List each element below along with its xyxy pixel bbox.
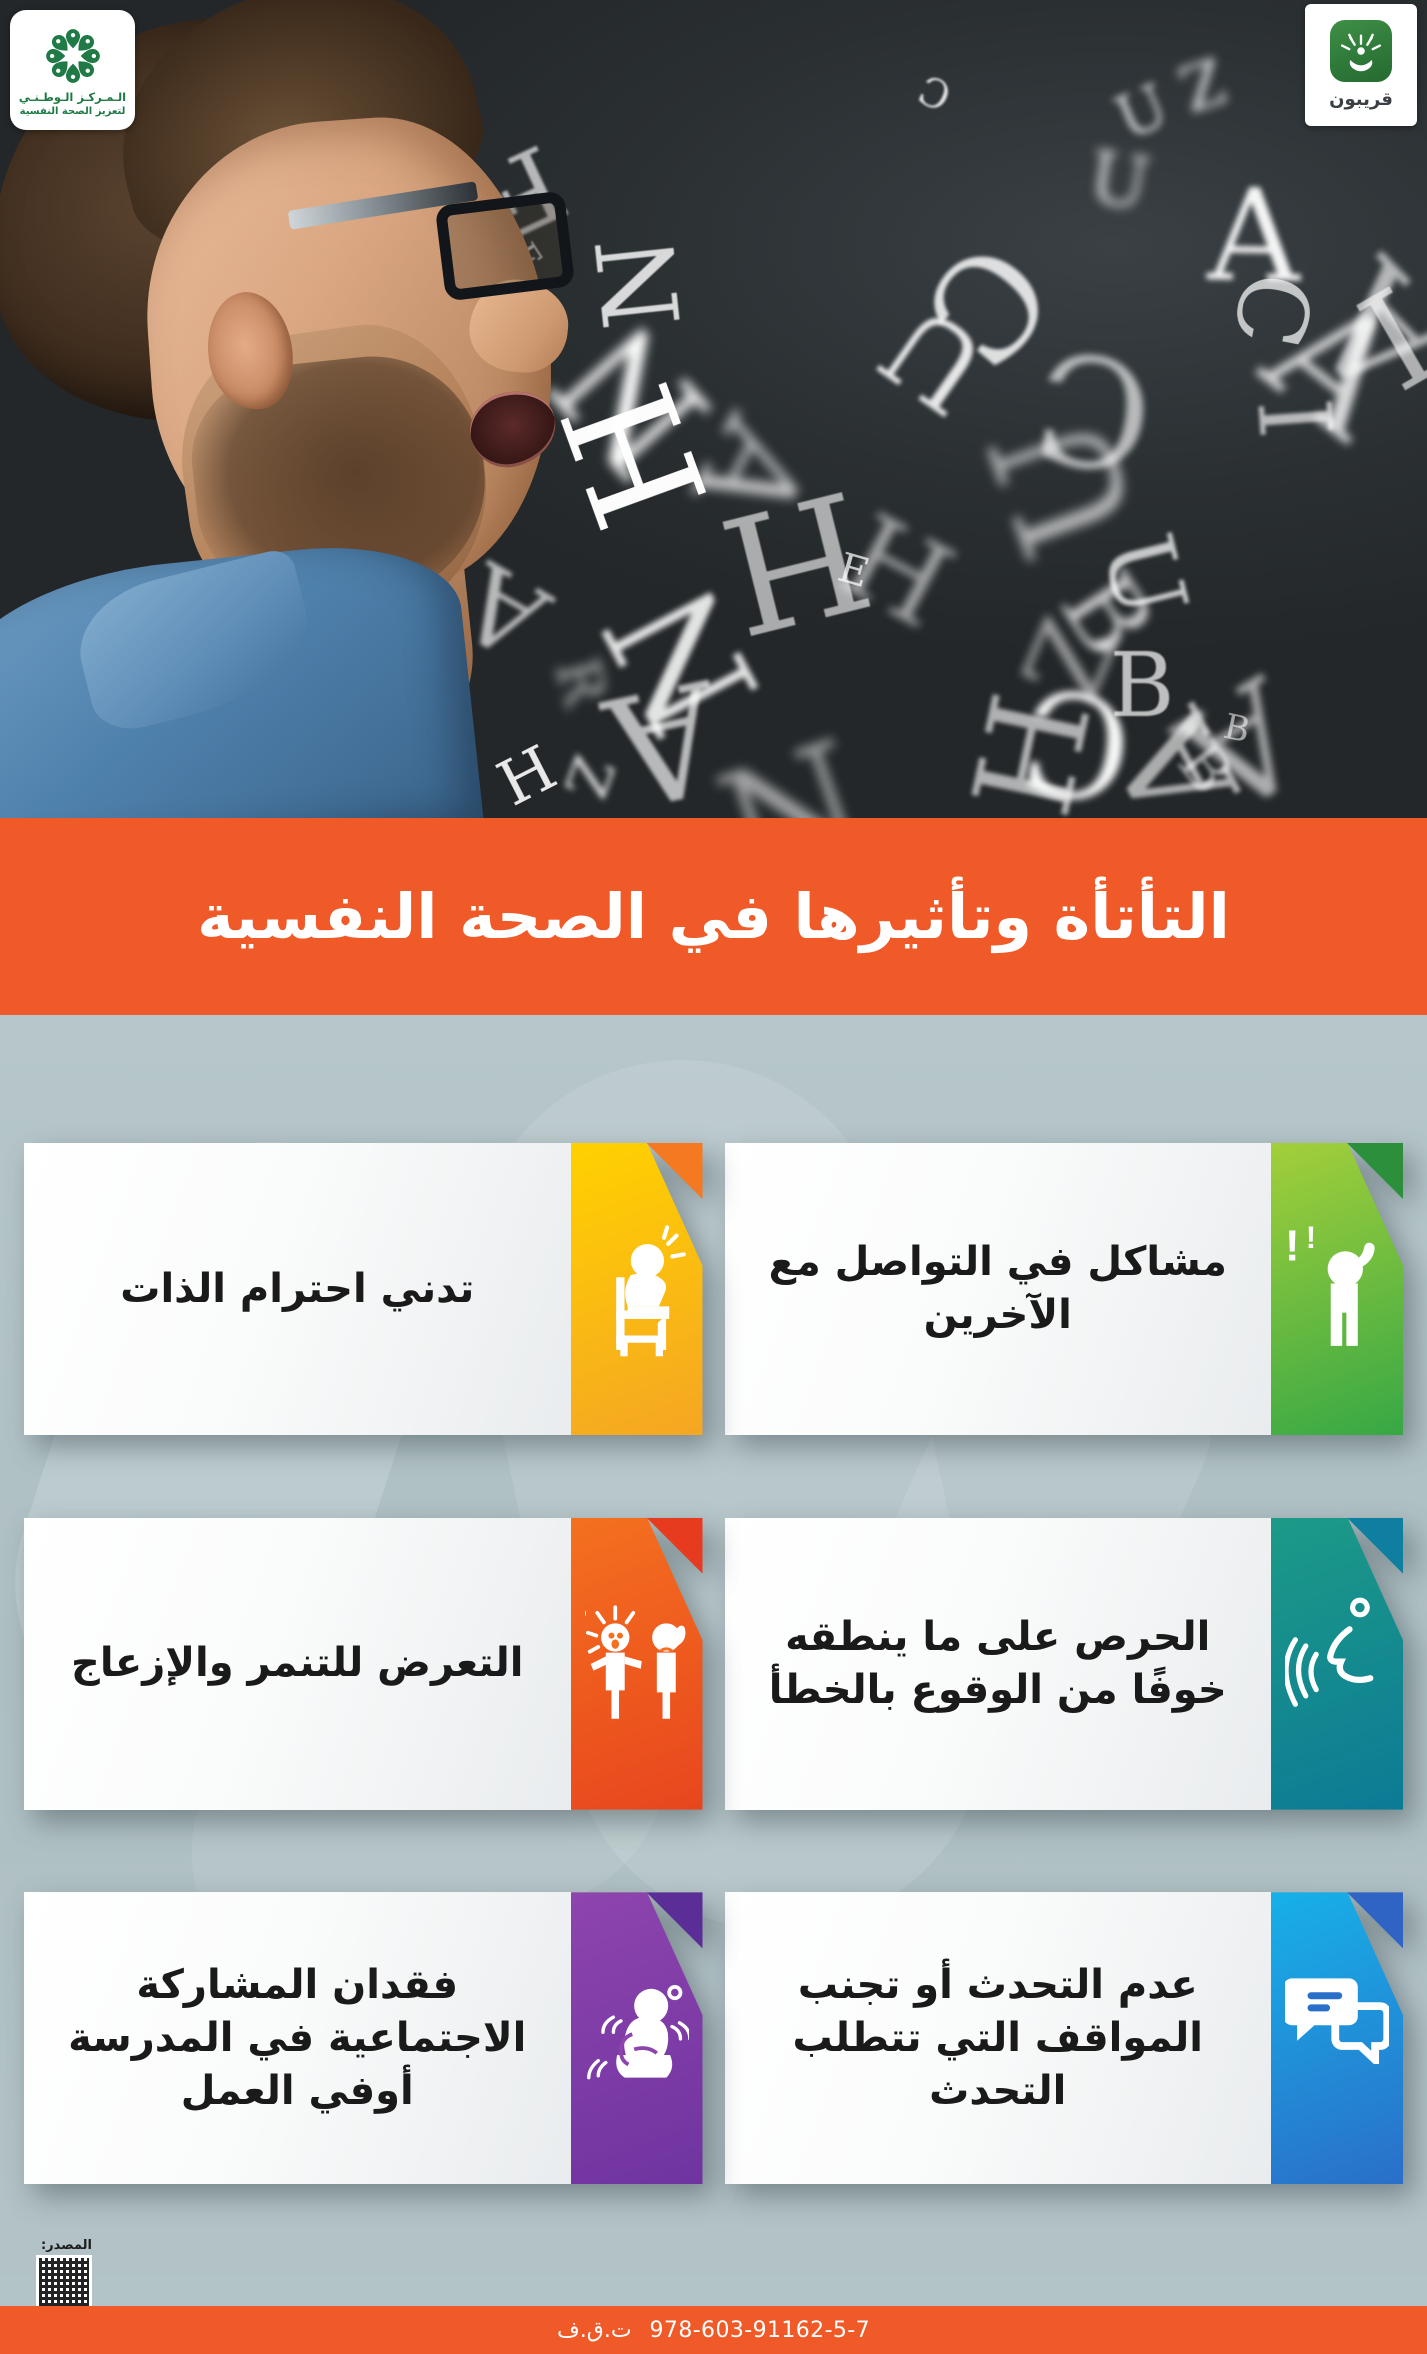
infographic-poster: BHBRANAZUCHFANUCEHAIZUACNBUFAHCZAIUNHACB	[0, 0, 1427, 2354]
effect-card[interactable]: التعرض للتنمر والإزعاج @#%!	[24, 1518, 703, 1810]
card-label: تدني احترام الذات	[120, 1263, 474, 1316]
bullying-two-people-icon: @#%!	[585, 1594, 689, 1734]
card-text-panel: عدم التحدث أو تجنب المواقف التي تتطلب ال…	[725, 1892, 1272, 2184]
card-icon-panel	[1271, 1518, 1403, 1810]
speech-bubbles-icon	[1285, 1968, 1389, 2108]
card-icon-panel: ! !	[1271, 1143, 1403, 1435]
effects-card-grid: مشاكل في التواصل مع الآخرين ! ! تدني احت…	[0, 1015, 1427, 2255]
page-title: التأتأة وتأثيرها في الصحة النفسية	[157, 878, 1270, 956]
flying-letter: I	[1248, 395, 1350, 441]
card-label: مشاكل في التواصل مع الآخرين	[751, 1236, 1246, 1342]
source-label: المصدر:	[12, 2238, 92, 2253]
center-emblem-icon	[41, 24, 105, 88]
person-hugging-knees-icon	[585, 1968, 689, 2108]
card-icon-panel	[571, 1143, 703, 1435]
qareeboon-label: قريبون	[1329, 89, 1393, 110]
card-label: فقدان المشاركة الاجتماعية في المدرسة أوف…	[50, 1959, 545, 2117]
card-icon-panel	[571, 1892, 703, 2184]
effect-card[interactable]: الحرص على ما ينطقه خوفًا من الوقوع بالخط…	[725, 1518, 1404, 1810]
flying-letter: U	[1084, 141, 1155, 221]
card-icon-panel: @#%!	[571, 1518, 703, 1810]
svg-text:@#%!: @#%!	[585, 1605, 587, 1622]
qareeboon-logo: قريبون	[1305, 4, 1417, 126]
card-text-panel: التعرض للتنمر والإزعاج	[24, 1518, 571, 1810]
speaking-head-sound-waves-icon	[1285, 1594, 1389, 1734]
flying-letter: C	[1218, 264, 1326, 354]
qr-code-icon[interactable]	[36, 2255, 92, 2311]
flying-letter: C	[915, 67, 958, 115]
isbn-number: 978-603-91162-5-7	[650, 2318, 871, 2343]
svg-text:!: !	[1285, 1222, 1300, 1271]
card-label: الحرص على ما ينطقه خوفًا من الوقوع بالخط…	[751, 1611, 1246, 1717]
card-label: التعرض للتنمر والإزعاج	[71, 1637, 523, 1690]
effect-card[interactable]: عدم التحدث أو تجنب المواقف التي تتطلب ال…	[725, 1892, 1404, 2184]
effect-card[interactable]: فقدان المشاركة الاجتماعية في المدرسة أوف…	[24, 1892, 703, 2184]
confused-person-exclamation-icon: ! !	[1285, 1219, 1389, 1359]
logo-line-2: لتعزيز الصحة النفسية	[20, 106, 126, 117]
sad-person-sitting-on-chair-icon	[585, 1219, 689, 1359]
logo-line-1: الـمـركـز الـوطـنـي	[19, 90, 126, 104]
card-label: عدم التحدث أو تجنب المواقف التي تتطلب ال…	[751, 1959, 1246, 2117]
national-center-logo: الـمـركـز الـوطـنـي لتعزيز الصحة النفسية	[10, 10, 135, 130]
title-banner: التأتأة وتأثيرها في الصحة النفسية	[0, 818, 1427, 1015]
flying-letter: Z	[1172, 47, 1231, 119]
card-text-panel: الحرص على ما ينطقه خوفًا من الوقوع بالخط…	[725, 1518, 1272, 1810]
svg-text:!: !	[1306, 1220, 1316, 1255]
hero-image: BHBRANAZUCHFANUCEHAIZUACNBUFAHCZAIUNHACB	[0, 0, 1427, 818]
card-icon-panel	[1271, 1892, 1403, 2184]
card-text-panel: فقدان المشاركة الاجتماعية في المدرسة أوف…	[24, 1892, 571, 2184]
isbn-prefix: ت.ق.ف	[557, 2318, 632, 2343]
effect-card[interactable]: تدني احترام الذات	[24, 1143, 703, 1435]
footer-bar: 978-603-91162-5-7 ت.ق.ف	[0, 2306, 1427, 2354]
qareeboon-app-icon	[1330, 20, 1392, 82]
glasses-lens	[435, 190, 576, 301]
source-block: المصدر:	[12, 2238, 92, 2311]
card-text-panel: تدني احترام الذات	[24, 1143, 571, 1435]
effect-card[interactable]: مشاكل في التواصل مع الآخرين ! !	[725, 1143, 1404, 1435]
card-text-panel: مشاكل في التواصل مع الآخرين	[725, 1143, 1272, 1435]
